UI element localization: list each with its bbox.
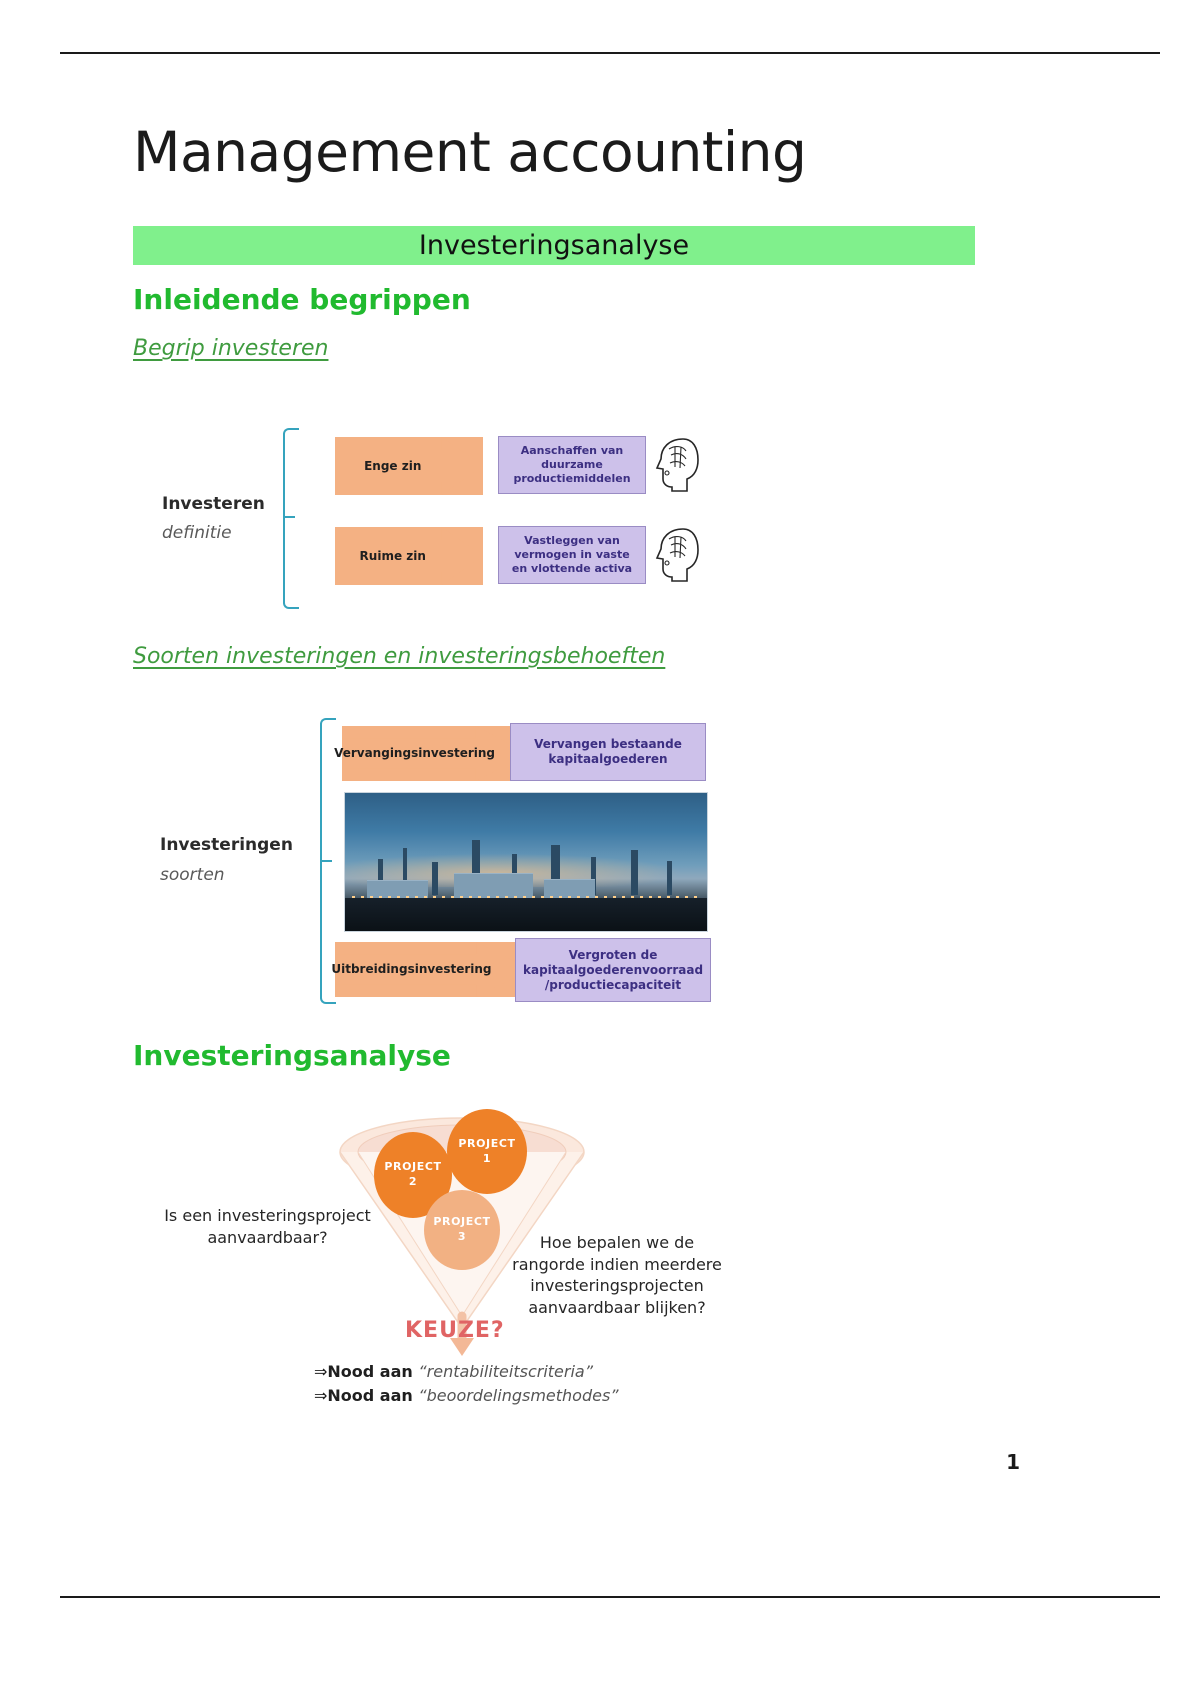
arrow-uitbreidingsinvestering-label: Uitbreidingsinvestering: [331, 963, 534, 976]
figure-investeringsanalyse-funnel: PROJECT 2 PROJECT 1 PROJECT 3 Is een inv…: [170, 1090, 770, 1410]
page-title: Management accounting: [133, 120, 806, 184]
project-bubble-2-number: 2: [409, 1175, 417, 1190]
header-rule: [60, 52, 1160, 54]
project-bubble-3-name: PROJECT: [433, 1215, 490, 1230]
arrow-ruime-zin: Ruime zin: [335, 527, 483, 585]
brace-middle-tick: [283, 516, 295, 518]
bullet-arrow-icon: ⇒: [314, 1362, 327, 1381]
brace-bracket: [283, 428, 299, 609]
arrow-uitbreidingsinvestering: Uitbreidingsinvestering: [335, 942, 531, 997]
keuze-label: KEUZE?: [405, 1318, 505, 1343]
photo-stack: [667, 861, 672, 896]
figure-label-main: Investeringen: [160, 835, 293, 855]
photo-foreground: [345, 898, 707, 931]
box-aanschaffen-duurzame-productiemiddelen: Aanschaffen van duurzame productiemiddel…: [498, 436, 646, 494]
bullet-lead: Nood aan: [327, 1362, 418, 1381]
bullet-rentabiliteitscriteria: ⇒Nood aan “rentabiliteitscriteria”: [314, 1362, 593, 1381]
box-vervangen-bestaande-kapitaalgoederen: Vervangen bestaande kapitaalgoederen: [510, 723, 706, 781]
question-aanvaardbaar: Is een investeringsproject aanvaardbaar?: [160, 1205, 375, 1248]
page-number: 1: [1006, 1450, 1020, 1474]
subheading-begrip-investeren: Begrip investeren: [133, 336, 328, 361]
subheading-soorten-investeringen: Soorten investeringen en investeringsbeh…: [133, 644, 665, 669]
question-rangorde: Hoe bepalen we de rangorde indien meerde…: [506, 1232, 728, 1318]
arrow-ruime-zin-label: Ruime zin: [360, 550, 459, 563]
photo-stack: [432, 862, 438, 895]
project-bubble-3-number: 3: [458, 1230, 466, 1245]
bullet-quoted: “beoordelingsmethodes”: [418, 1386, 618, 1405]
document-page: Management accounting Investeringsanalys…: [0, 0, 1200, 1700]
head-brain-icon: [653, 525, 703, 583]
figure-label-sub: definitie: [162, 523, 232, 543]
arrow-enge-zin-label: Enge zin: [364, 460, 454, 473]
section-banner-label: Investeringsanalyse: [419, 230, 689, 261]
bullet-beoordelingsmethodes: ⇒Nood aan “beoordelingsmethodes”: [314, 1386, 619, 1405]
project-bubble-2-name: PROJECT: [384, 1160, 441, 1175]
figure-label-main: Investeren: [162, 494, 265, 514]
project-bubble-1: PROJECT 1: [447, 1109, 527, 1194]
arrow-enge-zin: Enge zin: [335, 437, 483, 495]
heading-inleidende-begrippen: Inleidende begrippen: [133, 283, 471, 316]
photo-stack: [631, 850, 638, 896]
bullet-lead: Nood aan: [327, 1386, 418, 1405]
refinery-photo: [344, 792, 708, 932]
arrow-vervangingsinvestering: Vervangingsinvestering: [342, 726, 528, 781]
arrow-vervangingsinvestering-label: Vervangingsinvestering: [334, 747, 536, 760]
section-banner: Investeringsanalyse: [133, 226, 975, 265]
figure-label-sub: soorten: [160, 865, 225, 885]
box-vergroten-kapitaalgoederenvoorraad: Vergroten de kapitaalgoederenvoorraad /p…: [515, 938, 711, 1002]
figure-investeren-definitie: Investeren definitie Enge zin Aanschaffe…: [150, 415, 720, 625]
project-bubble-1-number: 1: [483, 1152, 491, 1167]
brace-middle-tick: [320, 860, 332, 862]
bullet-quoted: “rentabiliteitscriteria”: [418, 1362, 593, 1381]
box-vastleggen-vermogen: Vastleggen van vermogen in vaste en vlot…: [498, 526, 646, 584]
figure-investeringen-soorten: Investeringen soorten Vervangingsinveste…: [150, 710, 730, 1010]
head-brain-icon: [653, 435, 703, 493]
project-bubble-3: PROJECT 3: [424, 1190, 500, 1270]
bullet-arrow-icon: ⇒: [314, 1386, 327, 1405]
footer-rule: [60, 1596, 1160, 1598]
project-bubble-1-name: PROJECT: [458, 1137, 515, 1152]
heading-investeringsanalyse: Investeringsanalyse: [133, 1039, 451, 1072]
